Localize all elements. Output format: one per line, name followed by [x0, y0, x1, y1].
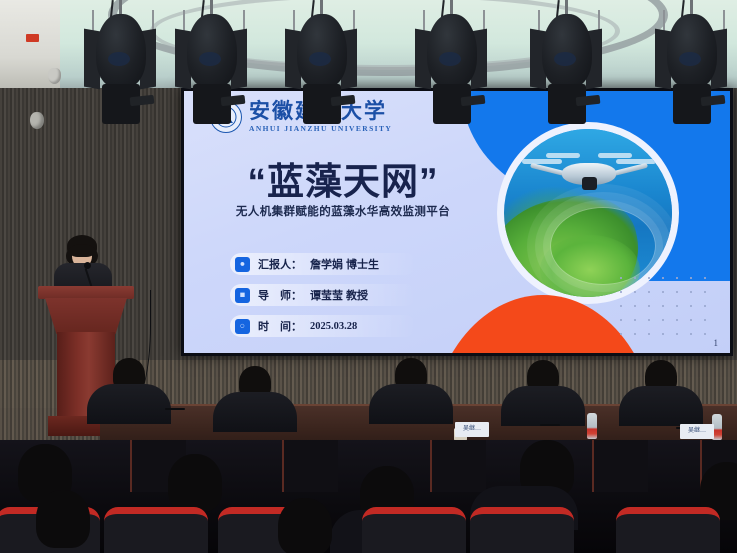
panelist — [500, 360, 586, 422]
info-row-date: ○ 时 间： 2025.03.28 — [230, 315, 416, 337]
stage-light-icon — [655, 0, 733, 125]
audience-area — [0, 440, 737, 553]
presenter-at-podium — [52, 238, 114, 292]
stage-light-icon — [530, 0, 608, 125]
stage-light-icon — [285, 0, 363, 125]
info-value-date: 2025.03.28 — [310, 321, 357, 332]
panelist-shoulders — [501, 386, 585, 426]
info-row-presenter: ● 汇报人： 詹学娟 博士生 — [230, 253, 416, 275]
info-label-presenter: 汇报人： — [258, 256, 302, 272]
auditorium-seat[interactable] — [104, 507, 208, 553]
panelist-shoulders — [87, 384, 171, 424]
drone-rotor — [546, 153, 580, 158]
audience-head — [168, 454, 222, 512]
smoke-detector-icon — [48, 68, 61, 84]
panelist — [86, 358, 172, 420]
stage-light-icon — [415, 0, 493, 125]
panelist — [212, 366, 298, 428]
drone-rotor — [616, 159, 656, 164]
panelist — [618, 360, 704, 422]
slide-page-number: 1 — [714, 338, 719, 348]
name-card-text: 吴继… — [680, 424, 714, 439]
name-card: 吴继… — [680, 424, 714, 439]
water-bottle — [587, 413, 597, 439]
seat-back — [282, 440, 338, 492]
person-icon: ● — [235, 257, 250, 272]
drone-rotor — [598, 153, 632, 158]
info-value-presenter: 詹学娟 博士生 — [310, 256, 379, 272]
clock-icon-glyph: ○ — [240, 322, 245, 331]
podium-body — [45, 298, 127, 334]
table-microphone — [165, 408, 185, 410]
name-card: 吴继… — [455, 422, 489, 437]
presenter-badge — [26, 34, 39, 42]
conference-photo: 安徽建筑大学 ANHUI JIANZHU UNIVERSITY “蓝藻天网” 无… — [0, 0, 737, 553]
drone-camera-icon — [582, 177, 597, 190]
clock-icon: ○ — [235, 319, 250, 334]
panelist-shoulders — [619, 386, 703, 426]
seat-back — [592, 440, 648, 492]
auditorium-seat[interactable] — [616, 507, 720, 553]
projection-screen: 安徽建筑大学 ANHUI JIANZHU UNIVERSITY “蓝藻天网” 无… — [181, 88, 733, 356]
audience-head — [36, 490, 90, 548]
wall-speaker-icon — [30, 112, 44, 129]
stage-light-icon — [84, 0, 162, 125]
info-row-advisor: ■ 导 师： 谭莹莹 教授 — [230, 284, 416, 306]
info-label-advisor: 导 师： — [258, 287, 302, 303]
drone-arm — [530, 163, 566, 177]
drone-rotor — [522, 159, 562, 164]
info-label-date: 时 间： — [258, 318, 302, 334]
slide-title: “蓝藻天网” — [208, 151, 478, 205]
slide-subtitle: 无人机集群赋能的蓝藻水华高效监测平台 — [208, 203, 478, 219]
dot-grid-decoration — [614, 271, 710, 337]
quadcopter-drone-icon — [526, 151, 652, 197]
panelist-shoulders — [213, 392, 297, 432]
panelist — [368, 358, 454, 420]
seat-back — [430, 440, 486, 492]
stage-light-icon — [175, 0, 253, 125]
university-name-en: ANHUI JIANZHU UNIVERSITY — [249, 125, 392, 133]
drone-arm — [612, 163, 648, 177]
table-microphone — [540, 424, 560, 426]
teacher-icon-glyph: ■ — [240, 291, 245, 300]
auditorium-seat[interactable] — [470, 507, 574, 553]
person-icon-glyph: ● — [240, 260, 245, 269]
slide-info-list: ● 汇报人： 詹学娟 博士生 ■ 导 师： 谭莹莹 教授 ○ 时 间： 2025… — [230, 253, 416, 337]
audience-head — [278, 498, 332, 553]
presentation-slide: 安徽建筑大学 ANHUI JIANZHU UNIVERSITY “蓝藻天网” 无… — [184, 91, 730, 353]
name-card-text: 吴继… — [455, 422, 489, 437]
teacher-icon: ■ — [235, 288, 250, 303]
info-value-advisor: 谭莹莹 教授 — [310, 287, 368, 303]
auditorium-seat[interactable] — [362, 507, 466, 553]
panelist-shoulders — [369, 384, 453, 424]
